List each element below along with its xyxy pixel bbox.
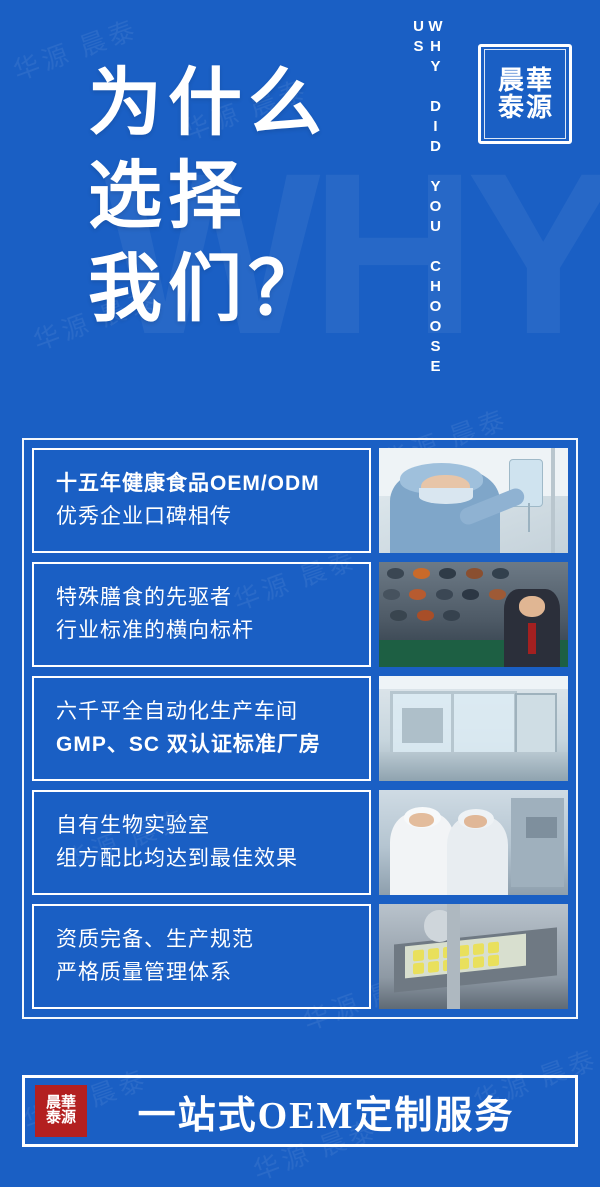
benefit-line-1: 自有生物实验室: [56, 810, 347, 843]
footer-slogan: 一站式OEM定制服务: [87, 1084, 575, 1139]
benefit-line-1: 资质完备、生产规范: [56, 924, 347, 957]
benefit-line-2: 行业标准的横向标杆: [56, 615, 347, 648]
seal-char-2: 華: [526, 67, 552, 94]
blister-packaging-machine-photo: [379, 904, 568, 1009]
benefit-text-block: 自有生物实验室 组方配比均达到最佳效果: [32, 790, 371, 895]
poster-header: 为什么 选择 我们？ WHY DID YOU CHOOSE US 晨 泰 華 源: [0, 0, 600, 430]
benefit-line-2: 组方配比均达到最佳效果: [56, 843, 347, 876]
benefit-text-block: 十五年健康食品OEM/ODM 优秀企业口碑相传: [32, 448, 371, 553]
title-line-1: 为什么: [88, 58, 328, 151]
benefit-row: 六千平全自动化生产车间 GMP、SC 双认证标准厂房: [32, 676, 568, 781]
footer-seal-char-4: 源: [61, 1111, 76, 1126]
title-line-3: 我们？: [88, 244, 328, 337]
benefit-line-2: GMP、SC 双认证标准厂房: [56, 729, 347, 762]
benefit-line-1: 六千平全自动化生产车间: [56, 696, 347, 729]
lab-worker-iv-bag-photo: [379, 448, 568, 553]
conference-audience-photo: [379, 562, 568, 667]
footer-seal-char-3: 泰: [46, 1111, 61, 1126]
benefit-line-1: 十五年健康食品OEM/ODM: [56, 468, 347, 501]
title-line-2: 选择: [88, 151, 328, 244]
footer-seal-char-1: 晨: [46, 1096, 61, 1111]
seal-char-4: 源: [526, 94, 552, 121]
benefit-text-block: 特殊膳食的先驱者 行业标准的横向标杆: [32, 562, 371, 667]
benefit-row: 自有生物实验室 组方配比均达到最佳效果: [32, 790, 568, 895]
benefit-row: 十五年健康食品OEM/ODM 优秀企业口碑相传: [32, 448, 568, 553]
seal-char-3: 泰: [498, 94, 524, 121]
seal-char-1: 晨: [498, 67, 524, 94]
footer-seal-logo: 晨 泰 華 源: [35, 1085, 87, 1137]
footer-banner: 晨 泰 華 源 一站式OEM定制服务: [22, 1075, 578, 1147]
benefit-text-block: 六千平全自动化生产车间 GMP、SC 双认证标准厂房: [32, 676, 371, 781]
brand-seal-logo: 晨 泰 華 源: [478, 44, 572, 144]
benefit-line-2: 优秀企业口碑相传: [56, 501, 347, 534]
clean-workshop-corridor-photo: [379, 676, 568, 781]
benefit-line-2: 严格质量管理体系: [56, 957, 347, 990]
poster-root: 华源 晨泰 华源 晨泰 华源 晨泰 华源 晨泰 华源 晨泰 华源 晨泰 华源 晨…: [0, 0, 600, 1187]
benefit-text-block: 资质完备、生产规范 严格质量管理体系: [32, 904, 371, 1009]
vertical-english-tagline: WHY DID YOU CHOOSE US: [416, 18, 444, 398]
benefit-row: 特殊膳食的先驱者 行业标准的横向标杆: [32, 562, 568, 667]
page-title: 为什么 选择 我们？: [88, 58, 328, 338]
benefit-line-1: 特殊膳食的先驱者: [56, 582, 347, 615]
benefit-row: 资质完备、生产规范 严格质量管理体系: [32, 904, 568, 1009]
benefits-panel: 十五年健康食品OEM/ODM 优秀企业口碑相传 特殊膳食的先驱者 行业标准的横向…: [22, 438, 578, 1019]
footer-seal-char-2: 華: [61, 1096, 76, 1111]
technicians-production-line-photo: [379, 790, 568, 895]
